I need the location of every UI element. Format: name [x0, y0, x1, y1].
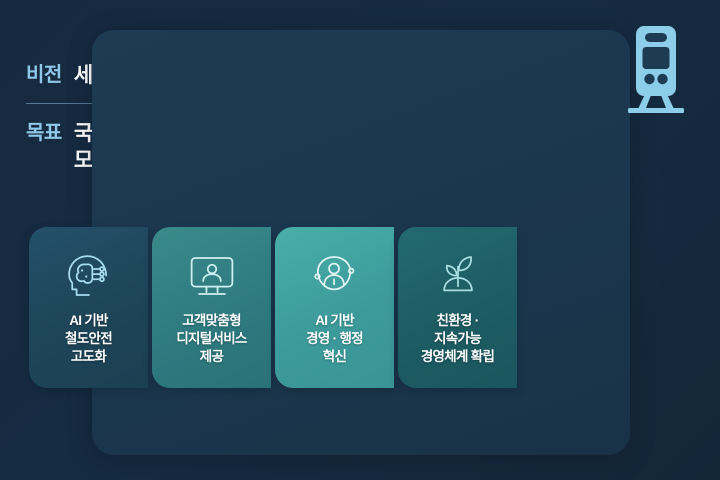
strategy-card-sustainable-management[interactable]: 친환경 · 지속가능 경영체계 확립	[398, 227, 517, 388]
strategy-cards: AI 기반 철도안전 고도화 고객맞춤형 디지털서비스 제공	[29, 227, 517, 388]
ai-brain-head-icon	[63, 251, 115, 301]
card-label: 고객맞춤형 디지털서비스 제공	[172, 312, 250, 366]
strategy-card-railway-safety[interactable]: AI 기반 철도안전 고도화	[29, 227, 148, 388]
strategy-card-digital-service[interactable]: 고객맞춤형 디지털서비스 제공	[152, 227, 271, 388]
goal-label: 목표	[26, 120, 62, 146]
card-label: 친환경 · 지속가능 경영체계 확립	[417, 312, 498, 366]
sprout-plant-icon	[432, 251, 484, 301]
card-label: AI 기반 경영 · 행정 혁신	[302, 312, 367, 366]
person-orbit-icon	[309, 251, 361, 301]
train-front-icon	[620, 26, 692, 114]
strategy-card-management-innovation[interactable]: AI 기반 경영 · 행정 혁신	[275, 227, 394, 388]
vision-label: 비전	[26, 62, 62, 88]
monitor-person-icon	[186, 251, 238, 301]
card-label: AI 기반 철도안전 고도화	[61, 312, 116, 366]
slide-canvas: 비전 세계 1위 AX 융합 철도 운영 기관 목표 국민이 체감하는 모두의 …	[0, 0, 720, 480]
